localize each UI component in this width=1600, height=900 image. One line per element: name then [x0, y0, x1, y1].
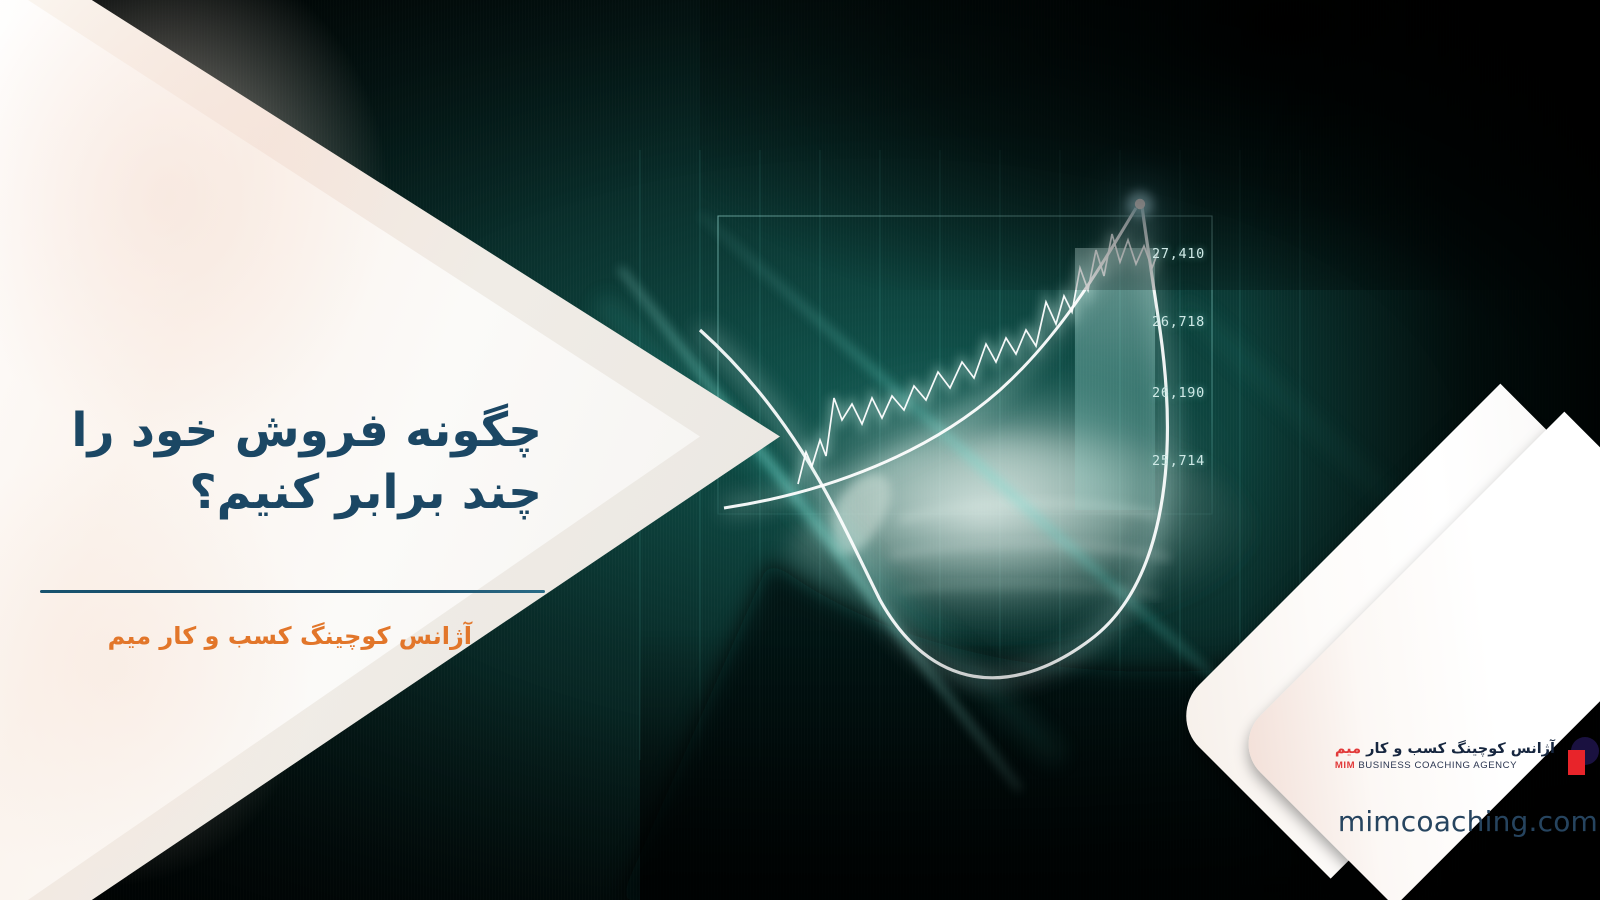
brand-block: آژانس کوچینگ کسب و کار میم MIM BUSINESS …	[1258, 733, 1600, 873]
brand-name-fa-accent: میم	[1335, 741, 1361, 757]
promo-banner: 27,410 26,718 26,190 25,714 چگونه فروش خ…	[0, 0, 1600, 900]
logo-mark-icon	[1562, 736, 1600, 776]
logo-square-shape	[1568, 750, 1585, 775]
headline-block: چگونه فروش خود را چند برابر کنیم؟	[0, 400, 560, 524]
title-divider	[40, 590, 545, 593]
axis-tick-label-3: 26,190	[1152, 385, 1205, 401]
page-title: چگونه فروش خود را چند برابر کنیم؟	[0, 400, 542, 524]
brand-logo-mark	[1562, 736, 1600, 776]
axis-tick-label-4: 25,714	[1152, 453, 1205, 469]
axis-tick-label-1: 27,410	[1152, 246, 1205, 262]
website-url: mimcoaching.com	[1338, 805, 1598, 838]
brand-name-en-accent: MIM	[1335, 760, 1355, 771]
brand-name-en-plain: BUSINESS COACHING AGENCY	[1355, 760, 1517, 771]
subheadline-block: آژانس کوچینگ کسب و کار میم	[0, 620, 480, 654]
brand-text: آژانس کوچینگ کسب و کار میم MIM BUSINESS …	[1335, 741, 1555, 771]
axis-tick-label-2: 26,718	[1152, 314, 1205, 330]
page-subtitle: آژانس کوچینگ کسب و کار میم	[0, 620, 472, 654]
brand-name-en: MIM BUSINESS COACHING AGENCY	[1335, 760, 1555, 771]
brand-name-fa: آژانس کوچینگ کسب و کار میم	[1335, 741, 1555, 758]
brand-lockup: آژانس کوچینگ کسب و کار میم MIM BUSINESS …	[1335, 733, 1600, 779]
brand-name-fa-plain: آژانس کوچینگ کسب و کار	[1361, 741, 1555, 757]
